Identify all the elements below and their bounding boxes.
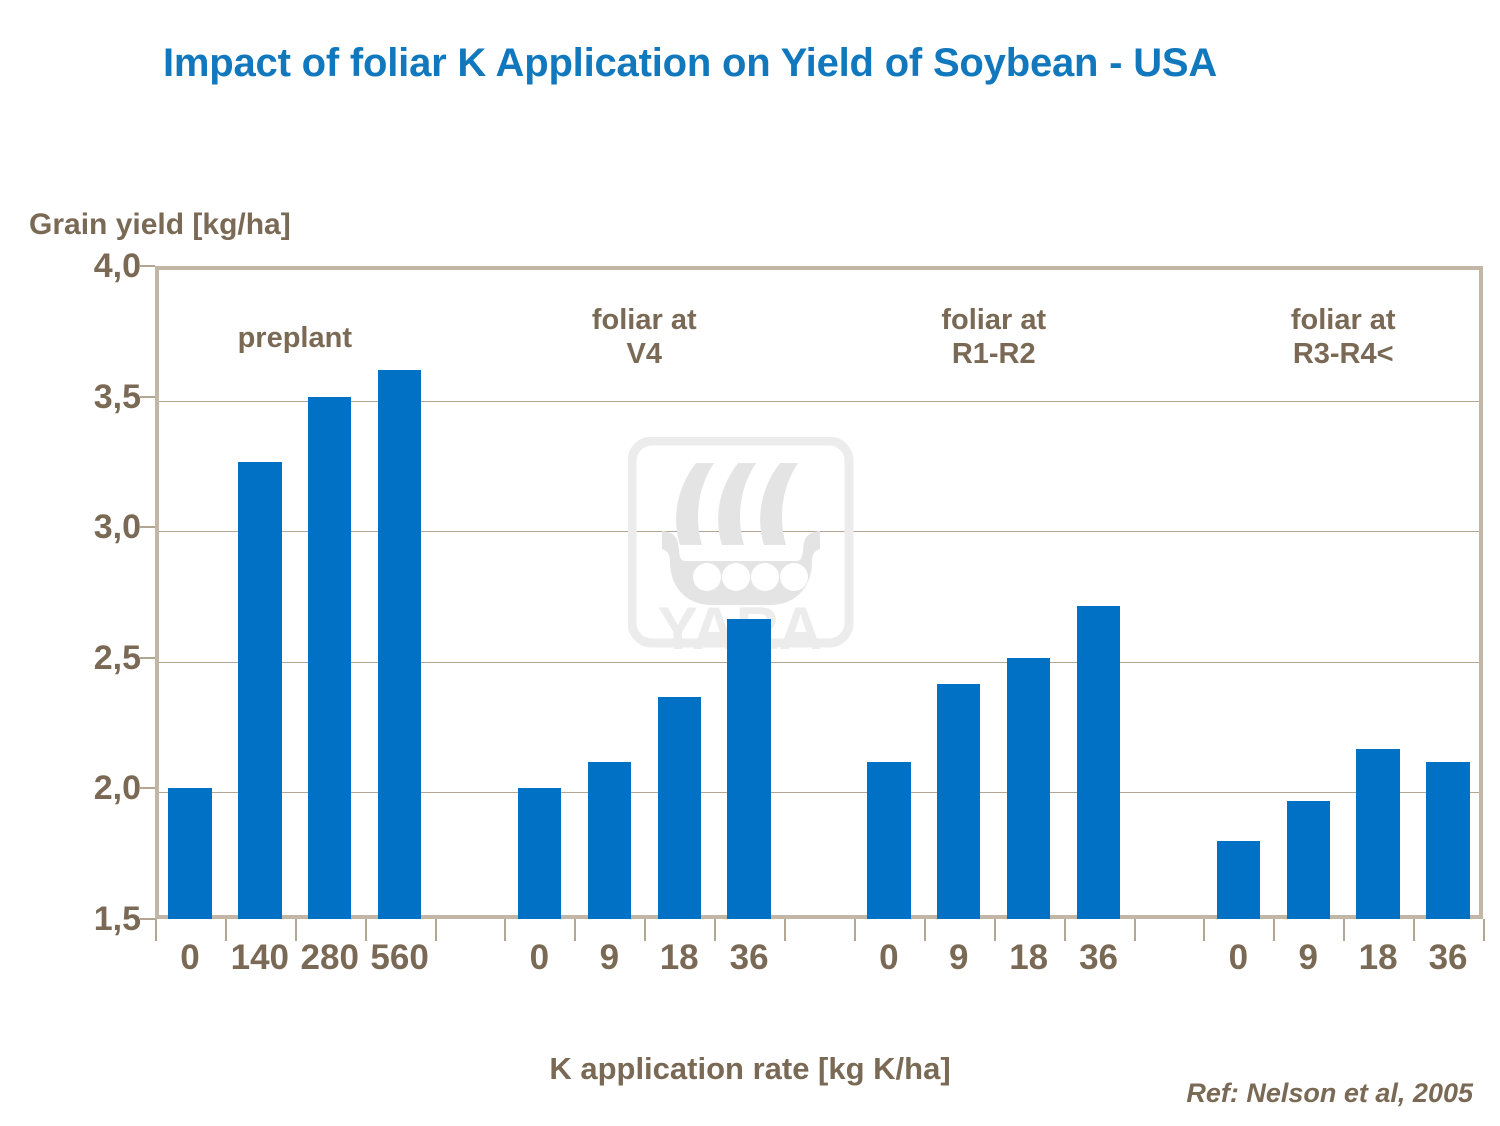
- x-tick-mark: [1413, 919, 1415, 941]
- bar: [1356, 749, 1399, 919]
- reference-citation: Ref: Nelson et al, 2005: [1186, 1078, 1473, 1109]
- x-tick-mark: [1064, 919, 1066, 941]
- bar: [168, 788, 211, 919]
- y-tick-mark: [140, 787, 155, 789]
- bar: [867, 762, 910, 919]
- group-label: foliar at R1-R2: [824, 303, 1164, 371]
- x-tick-mark: [1273, 919, 1275, 941]
- y-tick-mark: [140, 265, 155, 267]
- x-tick-mark: [295, 919, 297, 941]
- x-tick-label: 140: [225, 940, 295, 975]
- x-tick-mark: [504, 919, 506, 941]
- y-tick-mark: [140, 396, 155, 398]
- x-tick-mark: [784, 919, 786, 941]
- x-tick-label: 9: [574, 940, 644, 975]
- bar: [378, 370, 421, 919]
- x-tick-label: 0: [854, 940, 924, 975]
- y-tick-mark: [140, 657, 155, 659]
- y-tick-label: 2,5: [41, 641, 141, 675]
- group-label: preplant: [125, 321, 465, 355]
- x-tick-mark: [994, 919, 996, 941]
- y-tick-label: 4,0: [41, 249, 141, 283]
- x-tick-mark: [644, 919, 646, 941]
- y-tick-label: 2,0: [41, 771, 141, 805]
- x-tick-label: 36: [714, 940, 784, 975]
- x-tick-label: 18: [994, 940, 1064, 975]
- bar: [937, 684, 980, 919]
- x-tick-mark: [574, 919, 576, 941]
- y-axis-tick-marks: [140, 266, 155, 919]
- x-tick-label: 18: [644, 940, 714, 975]
- x-tick-label: 9: [1273, 940, 1343, 975]
- group-label: foliar at R3-R4<: [1173, 303, 1500, 371]
- x-tick-mark: [435, 919, 437, 941]
- x-tick-mark: [924, 919, 926, 941]
- group-label: foliar at V4: [474, 303, 814, 371]
- bar: [588, 762, 631, 919]
- bar: [727, 619, 770, 919]
- y-tick-label: 3,5: [41, 380, 141, 414]
- y-tick-label: 1,5: [41, 902, 141, 936]
- y-tick-mark: [140, 918, 155, 920]
- bar: [1077, 606, 1120, 919]
- y-tick-label: 3,0: [41, 510, 141, 544]
- bar: [1426, 762, 1469, 919]
- y-axis-title: Grain yield [kg/ha]: [29, 208, 291, 242]
- y-axis-tick-labels: 1,52,02,53,03,54,0: [36, 266, 141, 919]
- x-tick-mark: [1203, 919, 1205, 941]
- x-tick-label: 560: [365, 940, 435, 975]
- x-tick-mark: [365, 919, 367, 941]
- x-tick-label: 36: [1064, 940, 1134, 975]
- bar: [658, 697, 701, 919]
- y-tick-mark: [140, 526, 155, 528]
- x-tick-label: 0: [155, 940, 225, 975]
- x-tick-label: 18: [1343, 940, 1413, 975]
- x-tick-label: 9: [924, 940, 994, 975]
- x-tick-mark: [1343, 919, 1345, 941]
- x-tick-mark: [1483, 919, 1485, 941]
- bar: [518, 788, 561, 919]
- x-tick-label: 0: [1203, 940, 1273, 975]
- page-title: Impact of foliar K Application on Yield …: [163, 38, 1433, 88]
- bar: [1007, 658, 1050, 919]
- x-tick-label: 36: [1413, 940, 1483, 975]
- bar: [1217, 841, 1260, 919]
- x-tick-mark: [225, 919, 227, 941]
- x-tick-mark: [155, 919, 157, 941]
- x-tick-mark: [854, 919, 856, 941]
- bar: [1287, 801, 1330, 919]
- x-tick-label: 0: [504, 940, 574, 975]
- bar: [308, 397, 351, 919]
- x-tick-label: 280: [295, 940, 365, 975]
- x-tick-mark: [1134, 919, 1136, 941]
- x-tick-mark: [714, 919, 716, 941]
- x-axis-tick-labels: 0140280560091836091836091836: [155, 940, 1483, 990]
- bar: [238, 462, 281, 919]
